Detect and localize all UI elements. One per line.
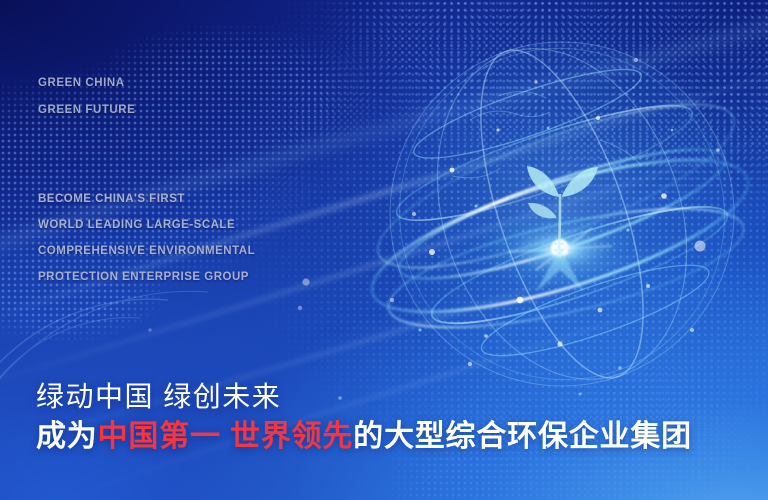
mission-line-3: COMPREHENSIVE ENVIRONMENTAL (38, 238, 255, 264)
mission-line-2: WORLD LEADING LARGE-SCALE (38, 212, 255, 238)
tagline-block: GREEN CHINA GREEN FUTURE (38, 70, 135, 124)
headline-suffix: 的大型综合环保企业集团 (353, 420, 692, 453)
promo-banner: GREEN CHINA GREEN FUTURE BECOME CHINA'S … (0, 0, 768, 500)
headline-prefix: 成为 (36, 420, 98, 453)
headline-line-1: 绿动中国 绿创未来 (36, 378, 736, 416)
headline-accent: 中国第一 世界领先 (98, 420, 354, 453)
headline-line-2: 成为中国第一 世界领先的大型综合环保企业集团 (36, 416, 736, 458)
mission-line-1: BECOME CHINA'S FIRST (38, 186, 255, 212)
tagline-line-1: GREEN CHINA (38, 70, 135, 97)
mission-line-4: PROTECTION ENTERPRISE GROUP (38, 264, 255, 290)
headline-block: 绿动中国 绿创未来 成为中国第一 世界领先的大型综合环保企业集团 (36, 378, 736, 458)
tagline-line-2: GREEN FUTURE (38, 97, 135, 124)
mission-block: BECOME CHINA'S FIRST WORLD LEADING LARGE… (38, 186, 255, 290)
